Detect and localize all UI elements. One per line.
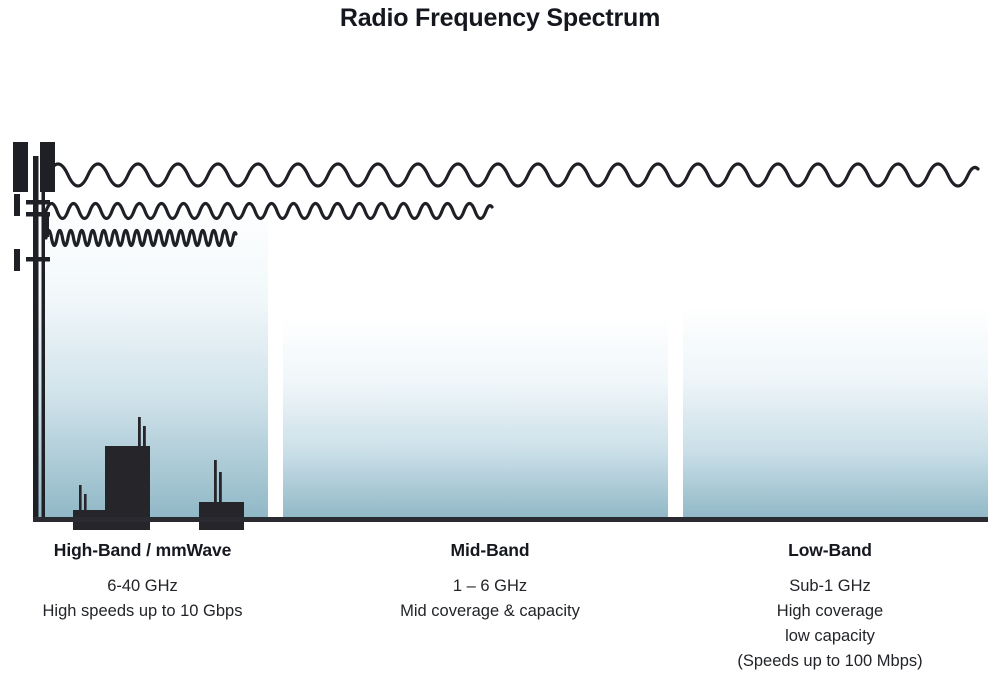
band-desc-low-3: (Speeds up to 100 Mbps) — [680, 649, 980, 674]
sky-panel-low-band — [683, 305, 988, 520]
sky-panel-high-band — [33, 200, 268, 520]
spectrum-scene — [0, 120, 1000, 530]
band-title-mid: Mid-Band — [345, 540, 635, 560]
band-title-high: High-Band / mmWave — [0, 540, 285, 560]
tower-side-antenna-2 — [14, 249, 20, 271]
skyscraper-antenna-2a — [138, 417, 141, 449]
band-frequency-mid: 1 – 6 GHz — [345, 574, 635, 599]
tower-side-antenna-3 — [44, 215, 49, 237]
band-desc-low-1: High coverage — [680, 599, 980, 624]
skyscraper-antenna-1a — [79, 485, 82, 513]
band-desc-mid: Mid coverage & capacity — [345, 599, 635, 624]
band-desc-low-2: low capacity — [680, 624, 980, 649]
tower-mast-secondary — [42, 192, 46, 520]
low-frequency-wave — [48, 164, 978, 186]
band-lines-mid: 1 – 6 GHz Mid coverage & capacity — [345, 574, 635, 624]
skyscraper-antenna-2b — [143, 426, 146, 449]
tower-crossbar-3 — [26, 257, 50, 262]
tower-mast — [33, 156, 39, 520]
tower-antenna-panel-left — [13, 142, 28, 192]
band-label-high: High-Band / mmWave 6-40 GHz High speeds … — [0, 540, 285, 624]
skyscraper-antenna-4b — [219, 472, 222, 503]
band-label-mid: Mid-Band 1 – 6 GHz Mid coverage & capaci… — [345, 540, 635, 624]
spectrum-illustration — [0, 120, 1000, 530]
infographic-canvas: Radio Frequency Spectrum — [0, 0, 1000, 700]
band-label-low: Low-Band Sub-1 GHz High coverage low cap… — [680, 540, 980, 674]
band-title-low: Low-Band — [680, 540, 980, 560]
tower-side-antenna-1 — [14, 194, 20, 216]
skyscraper-antenna-4a — [214, 460, 217, 503]
band-labels: High-Band / mmWave 6-40 GHz High speeds … — [0, 540, 1000, 700]
band-lines-low: Sub-1 GHz High coverage low capacity (Sp… — [680, 574, 980, 674]
skyscraper-4-body — [199, 502, 244, 530]
tower-antenna-panel-right — [40, 142, 55, 192]
ground-line — [33, 517, 988, 522]
page-title: Radio Frequency Spectrum — [0, 4, 1000, 33]
band-frequency-low: Sub-1 GHz — [680, 574, 980, 599]
tower-crossbar-1 — [26, 200, 50, 205]
sky-panel-mid-band — [283, 315, 668, 520]
band-frequency-high: 6-40 GHz — [0, 574, 285, 599]
band-desc-high: High speeds up to 10 Gbps — [0, 599, 285, 624]
band-lines-high: 6-40 GHz High speeds up to 10 Gbps — [0, 574, 285, 624]
